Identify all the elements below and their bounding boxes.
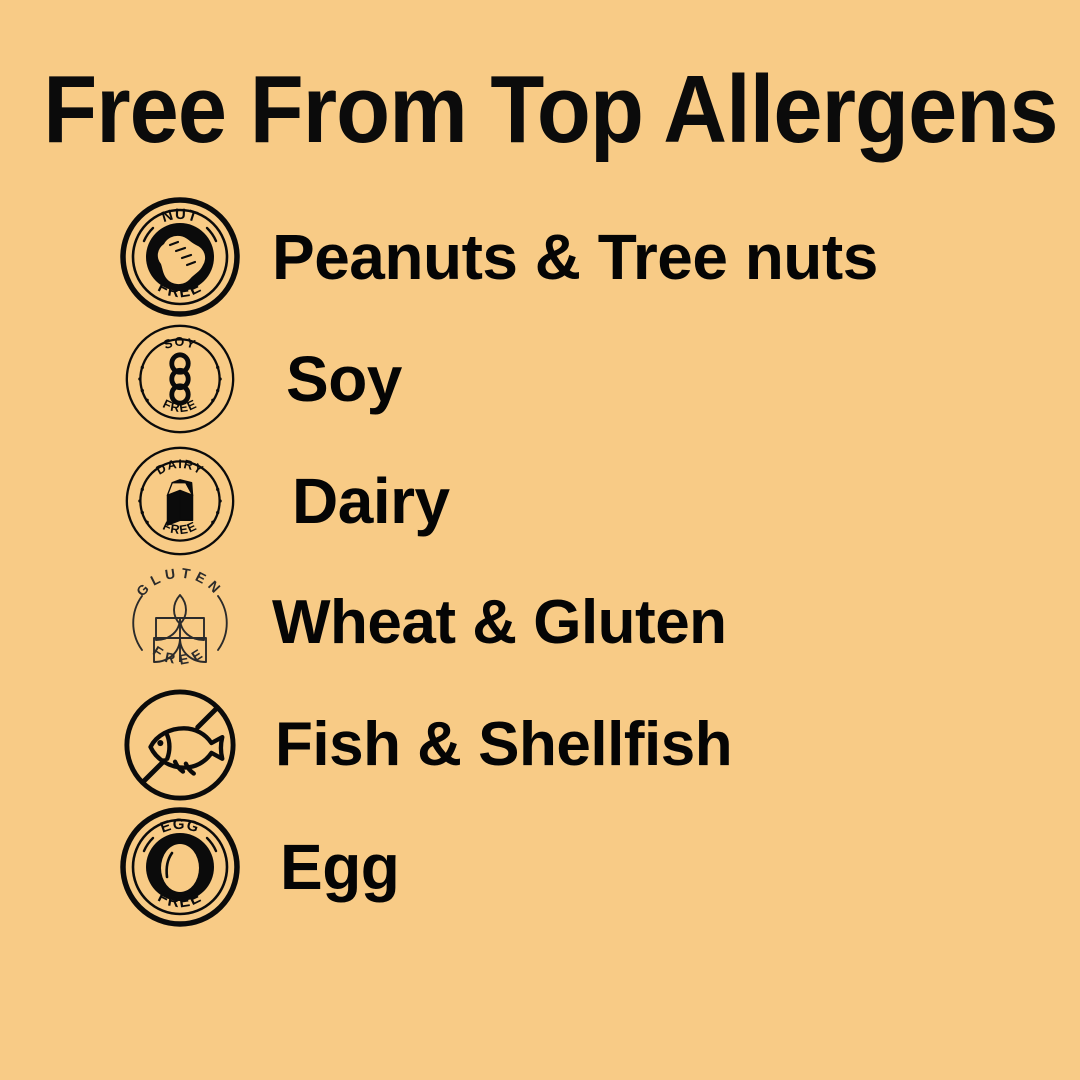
badge-top-text: SOY: [162, 335, 198, 352]
poster-canvas: Free From Top Allergens: [0, 0, 1080, 1080]
svg-text:SOY: SOY: [162, 335, 198, 352]
allergen-label: Dairy: [292, 469, 450, 533]
allergen-label: Wheat & Gluten: [272, 592, 727, 654]
peanut-free-badge: NUT FREE: [118, 196, 242, 318]
page-title: Free From Top Allergens: [43, 62, 1037, 158]
list-item: EGG FREE Egg: [0, 806, 1080, 928]
allergen-label: Fish & Shellfish: [275, 714, 732, 776]
allergen-label: Soy: [286, 347, 402, 411]
list-item: GLUTEN FREE Wheat & Gluten: [0, 562, 1080, 684]
badge-bottom-text: FREE: [161, 397, 200, 415]
svg-text:DAIRY: DAIRY: [154, 457, 207, 478]
allergen-label: Peanuts & Tree nuts: [272, 225, 878, 289]
list-item: DAIRY FREE Dairy: [0, 440, 1080, 562]
fish-free-badge: [118, 684, 242, 806]
dairy-free-badge: DAIRY FREE: [118, 440, 242, 562]
gluten-free-badge: GLUTEN FREE: [118, 562, 242, 684]
soy-free-badge: SOY FREE: [118, 318, 242, 440]
allergen-label: Egg: [280, 835, 399, 899]
badge-top-text: DAIRY: [154, 457, 207, 478]
egg-free-badge: EGG FREE: [118, 806, 242, 928]
svg-text:FREE: FREE: [161, 397, 200, 415]
list-item: SOY FREE Soy: [0, 318, 1080, 440]
svg-text:FREE: FREE: [161, 519, 200, 537]
list-item: Fish & Shellfish: [0, 684, 1080, 806]
allergen-list: NUT FREE Peanuts & Tree nuts: [0, 196, 1080, 928]
list-item: NUT FREE Peanuts & Tree nuts: [0, 196, 1080, 318]
badge-bottom-text: FREE: [161, 519, 200, 537]
